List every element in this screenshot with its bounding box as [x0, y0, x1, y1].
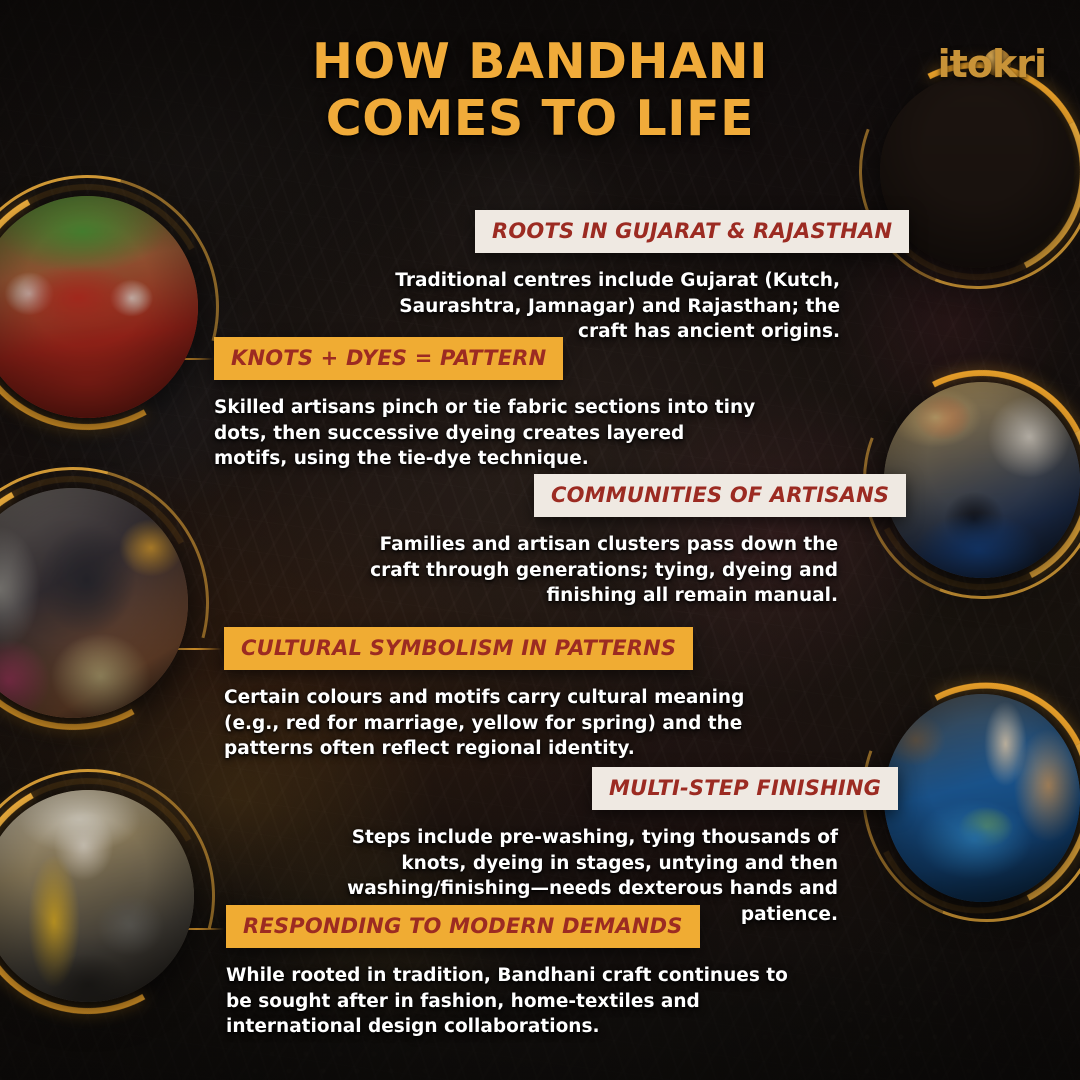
page-title-line-1: HOW BANDHANI: [312, 33, 768, 90]
step-text-symbolism: Certain colours and motifs carry cultura…: [224, 685, 784, 762]
step-label-finishing: MULTI-STEP FINISHING: [592, 767, 898, 810]
photo-medallion-yellow: [0, 790, 194, 1002]
step-communities: COMMUNITIES OF ARTISANS Families and art…: [340, 474, 838, 609]
photo-image-woman: [0, 488, 188, 718]
step-text-modern-demands: While rooted in tradition, Bandhani craf…: [226, 963, 796, 1040]
photo-image-yellow: [0, 790, 194, 1002]
photo-medallion-hands: [0, 196, 198, 418]
title-block: HOW BANDHANI COMES TO LIFE: [0, 34, 1080, 148]
photo-medallion-dyer: [884, 382, 1080, 578]
photo-image-dyer: [884, 382, 1080, 578]
step-label-symbolism: CULTURAL SYMBOLISM IN PATTERNS: [224, 627, 693, 670]
step-label-modern-demands: RESPONDING TO MODERN DEMANDS: [226, 905, 700, 948]
photo-medallion-woman: [0, 488, 188, 718]
brand-logo[interactable]: itokri: [938, 38, 1046, 90]
step-label-communities: COMMUNITIES OF ARTISANS: [534, 474, 906, 517]
step-text-knots-dyes: Skilled artisans pinch or tie fabric sec…: [214, 395, 759, 472]
photo-medallion-vat: [884, 694, 1080, 902]
infographic-poster: HOW BANDHANI COMES TO LIFE itokri: [0, 0, 1080, 1080]
step-label-roots: ROOTS IN GUJARAT & RAJASTHAN: [475, 210, 909, 253]
step-label-knots-dyes: KNOTS + DYES = PATTERN: [214, 337, 563, 380]
photo-image-vat: [884, 694, 1080, 902]
step-roots: ROOTS IN GUJARAT & RAJASTHAN Traditional…: [345, 210, 840, 345]
step-symbolism: CULTURAL SYMBOLISM IN PATTERNS Certain c…: [224, 627, 784, 762]
step-finishing: MULTI-STEP FINISHING Steps include pre-w…: [300, 767, 838, 927]
photo-image-hands: [0, 196, 198, 418]
step-text-roots: Traditional centres include Gujarat (Kut…: [345, 268, 840, 345]
step-knots-dyes: KNOTS + DYES = PATTERN Skilled artisans …: [214, 337, 759, 472]
brand-logo-text: itokri: [938, 42, 1046, 86]
page-title: HOW BANDHANI COMES TO LIFE: [0, 34, 1080, 148]
step-text-communities: Families and artisan clusters pass down …: [340, 532, 838, 609]
step-modern-demands: RESPONDING TO MODERN DEMANDS While roote…: [226, 905, 796, 1040]
page-title-line-2: COMES TO LIFE: [0, 91, 1080, 148]
